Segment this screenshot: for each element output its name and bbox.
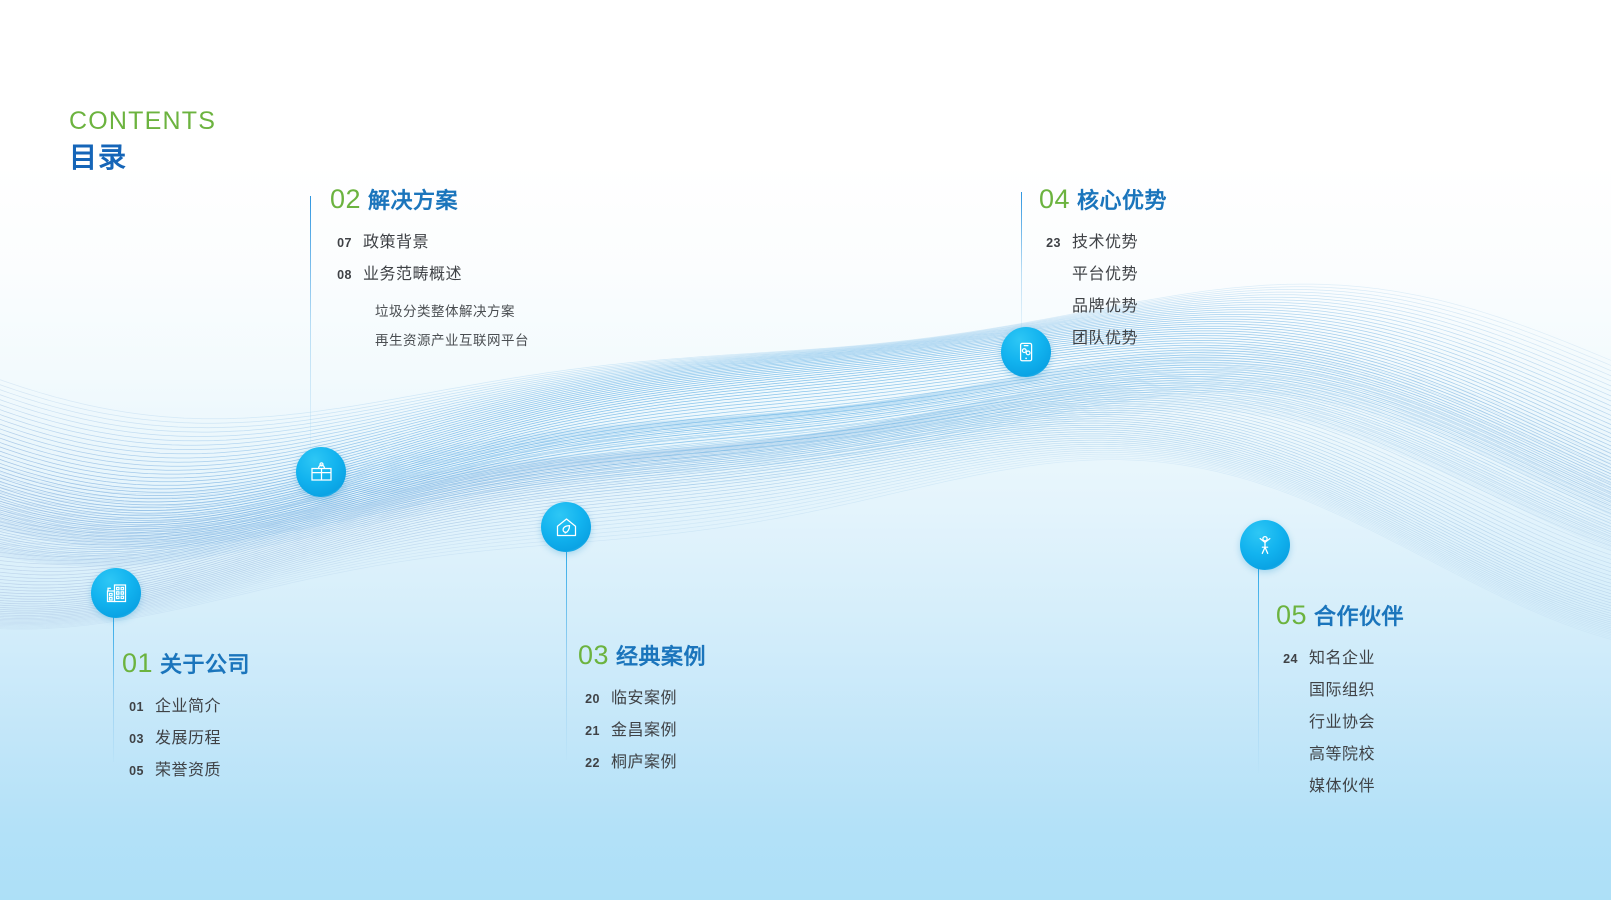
section-05-items: 24 知名企业 国际组织 行业协会 高等院校 媒体伙伴 [1276, 644, 1404, 796]
item-label: 临安案例 [611, 684, 677, 708]
list-item[interactable]: 23 技术优势 [1039, 228, 1167, 252]
item-number: 01 [122, 700, 144, 714]
item-label: 知名企业 [1309, 644, 1375, 668]
icon-bubble-02[interactable] [296, 447, 346, 497]
list-item[interactable]: 05 荣誉资质 [122, 756, 250, 780]
connector-line-05 [1258, 568, 1259, 773]
section-05: 05合作伙伴 24 知名企业 国际组织 行业协会 高等院校 媒体伙伴 [1276, 602, 1404, 804]
section-04-number: 04 [1039, 184, 1070, 214]
item-label: 业务范畴概述 [363, 260, 462, 284]
section-03-items: 20 临安案例 21 金昌案例 22 桐庐案例 [578, 684, 706, 772]
item-label: 金昌案例 [611, 716, 677, 740]
list-item[interactable]: 03 发展历程 [122, 724, 250, 748]
connector-line-02 [310, 196, 311, 454]
item-label: 再生资源产业互联网平台 [375, 329, 529, 349]
section-03-number: 03 [578, 640, 609, 670]
section-02-title[interactable]: 02解决方案 [330, 186, 529, 213]
connector-line-04 [1021, 192, 1022, 337]
section-02-items: 07 政策背景 08 业务范畴概述 垃圾分类整体解决方案 再生资源产业互联网平台 [330, 228, 529, 349]
item-number: 08 [330, 268, 352, 282]
mobile-app-icon [1013, 339, 1039, 365]
icon-bubble-03[interactable] [541, 502, 591, 552]
list-item[interactable]: 再生资源产业互联网平台 [330, 329, 529, 349]
item-number: 21 [578, 724, 600, 738]
item-number: 24 [1276, 652, 1298, 666]
list-item[interactable]: 高等院校 [1276, 740, 1404, 764]
section-05-number: 05 [1276, 600, 1307, 630]
section-05-name: 合作伙伴 [1314, 604, 1404, 629]
item-label: 技术优势 [1072, 228, 1138, 252]
item-label: 媒体伙伴 [1309, 772, 1375, 796]
item-label: 发展历程 [155, 724, 221, 748]
section-04-title[interactable]: 04核心优势 [1039, 186, 1167, 213]
item-number: 20 [578, 692, 600, 706]
section-04-name: 核心优势 [1077, 188, 1167, 213]
section-04-items: 23 技术优势 平台优势 品牌优势 团队优势 [1039, 228, 1167, 348]
section-03-name: 经典案例 [616, 644, 706, 669]
eco-house-icon [553, 514, 580, 541]
list-item[interactable]: 22 桐庐案例 [578, 748, 706, 772]
section-02: 02解决方案 07 政策背景 08 业务范畴概述 垃圾分类整体解决方案 再生资源… [330, 186, 529, 358]
list-item[interactable]: 品牌优势 [1039, 292, 1167, 316]
section-03: 03经典案例 20 临安案例 21 金昌案例 22 桐庐案例 [578, 642, 706, 780]
list-item[interactable]: 平台优势 [1039, 260, 1167, 284]
list-item[interactable]: 国际组织 [1276, 676, 1404, 700]
connector-line-01 [113, 617, 114, 762]
item-label: 高等院校 [1309, 740, 1375, 764]
item-label: 行业协会 [1309, 708, 1375, 732]
item-label: 品牌优势 [1072, 292, 1138, 316]
giftbox-icon [308, 459, 335, 486]
page-title: CONTENTS 目录 [69, 108, 216, 173]
list-item[interactable]: 01 企业简介 [122, 692, 250, 716]
section-02-number: 02 [330, 184, 361, 214]
connector-line-03 [566, 548, 567, 760]
list-item[interactable]: 行业协会 [1276, 708, 1404, 732]
contents-label-cn: 目录 [69, 143, 216, 174]
item-label: 企业简介 [155, 692, 221, 716]
building-icon [103, 580, 129, 606]
section-02-name: 解决方案 [368, 188, 458, 213]
section-01: 01关于公司 01 企业简介 03 发展历程 05 荣誉资质 [122, 650, 250, 788]
section-01-items: 01 企业简介 03 发展历程 05 荣誉资质 [122, 692, 250, 780]
item-number: 22 [578, 756, 600, 770]
item-label: 团队优势 [1072, 324, 1138, 348]
item-label: 国际组织 [1309, 676, 1375, 700]
item-number: 07 [330, 236, 352, 250]
section-05-title[interactable]: 05合作伙伴 [1276, 602, 1404, 629]
item-number: 03 [122, 732, 144, 746]
icon-bubble-05[interactable] [1240, 520, 1290, 570]
list-item[interactable]: 20 临安案例 [578, 684, 706, 708]
item-number: 23 [1039, 236, 1061, 250]
list-item[interactable]: 24 知名企业 [1276, 644, 1404, 668]
list-item[interactable]: 垃圾分类整体解决方案 [330, 300, 529, 320]
item-label: 政策背景 [363, 228, 429, 252]
person-cheer-icon [1252, 532, 1278, 558]
section-04: 04核心优势 23 技术优势 平台优势 品牌优势 团队优势 [1039, 186, 1167, 356]
item-label: 垃圾分类整体解决方案 [375, 300, 515, 320]
section-01-title[interactable]: 01关于公司 [122, 650, 250, 677]
icon-bubble-01[interactable] [91, 568, 141, 618]
section-01-name: 关于公司 [160, 652, 250, 677]
item-label: 平台优势 [1072, 260, 1138, 284]
contents-label-en: CONTENTS [69, 108, 216, 136]
list-item[interactable]: 08 业务范畴概述 [330, 260, 529, 284]
item-label: 荣誉资质 [155, 756, 221, 780]
item-label: 桐庐案例 [611, 748, 677, 772]
list-item[interactable]: 21 金昌案例 [578, 716, 706, 740]
item-number: 05 [122, 764, 144, 778]
list-item[interactable]: 媒体伙伴 [1276, 772, 1404, 796]
section-01-number: 01 [122, 648, 153, 678]
section-03-title[interactable]: 03经典案例 [578, 642, 706, 669]
list-item[interactable]: 07 政策背景 [330, 228, 529, 252]
list-item[interactable]: 团队优势 [1039, 324, 1167, 348]
